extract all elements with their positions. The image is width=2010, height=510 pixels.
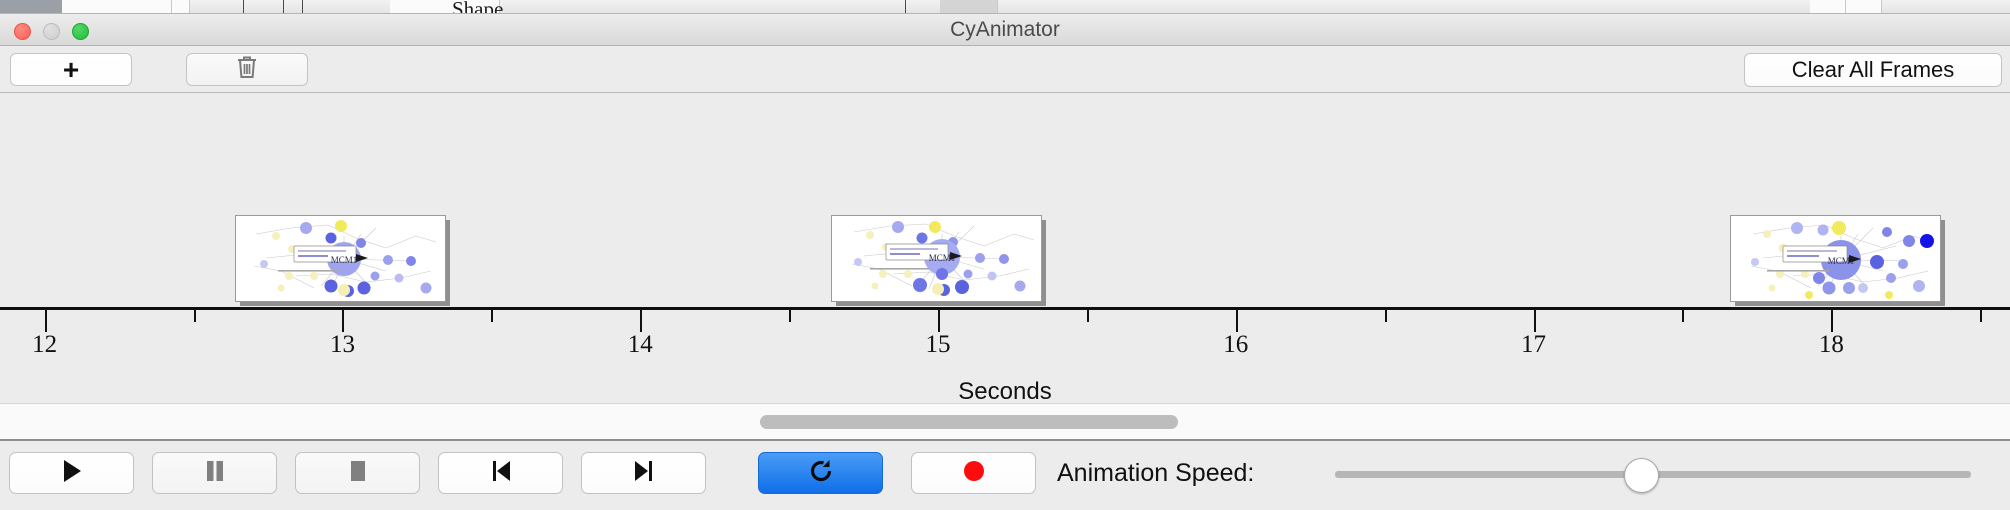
slider-thumb[interactable] [1624,458,1659,493]
axis-tick-label: 15 [926,331,951,359]
pause-icon [203,457,227,490]
axis-tick-major [1236,310,1238,332]
window-title: CyAnimator [0,14,2010,46]
playback-control-bar: Animation Speed: [0,439,2010,510]
thumbnail-image: MCM1 [1730,215,1941,302]
animation-speed-label: Animation Speed: [1057,452,1254,494]
axis-tick-major [1831,310,1833,332]
axis-tick-major [1534,310,1536,332]
timeline-panel[interactable]: MCM1 [0,93,2010,403]
scrollbar-track[interactable] [0,404,2010,439]
record-icon [961,458,987,489]
svg-text:MCM1: MCM1 [331,255,358,265]
clear-all-frames-label: Clear All Frames [1792,57,1955,83]
thumbnail-image: MCM1 [235,215,446,302]
axis-tick-label: 16 [1223,331,1248,359]
add-frame-button[interactable]: + [10,53,132,86]
axis-tick-minor [1980,310,1982,322]
stop-icon [346,457,370,490]
timeline-axis [0,307,2010,310]
stop-button[interactable] [295,452,420,494]
axis-title: Seconds [0,378,2010,403]
axis-tick-minor [194,310,196,322]
keyframe-thumbnail[interactable]: MCM1 [1730,215,1945,305]
axis-tick-minor [789,310,791,322]
axis-tick-label: 12 [32,331,57,359]
axis-tick-minor [491,310,493,322]
keyframe-thumbnail[interactable]: MCM1 [235,215,450,305]
keyframe-thumbnail[interactable]: MCM1 [831,215,1046,305]
axis-tick-label: 18 [1819,331,1844,359]
play-icon [59,457,85,490]
loop-icon [807,457,835,490]
title-bar: CyAnimator [0,14,2010,46]
axis-tick-major [640,310,642,332]
delete-frame-button[interactable] [186,53,308,86]
timeline-scrollbar[interactable] [0,403,2010,439]
axis-tick-minor [1087,310,1089,322]
play-button[interactable] [9,452,134,494]
animation-speed-slider[interactable] [1335,471,1971,478]
pause-button[interactable] [152,452,277,494]
axis-tick-label: 13 [330,331,355,359]
axis-tick-minor [1682,310,1684,322]
trash-icon [235,54,259,85]
scrollbar-thumb[interactable] [760,415,1178,429]
axis-tick-label: 17 [1521,331,1546,359]
skip-to-start-button[interactable] [438,452,563,494]
axis-tick-major [938,310,940,332]
skip-back-icon [488,457,514,490]
record-button[interactable] [911,452,1036,494]
axis-tick-major [45,310,47,332]
cyanimator-window: Shape CyAnimator + [0,0,2010,510]
axis-tick-label: 14 [628,331,653,359]
axis-tick-major [342,310,344,332]
toolbar: + Clear All Frames [0,46,2010,93]
background-window-strip: Shape [0,0,2010,14]
skip-to-end-button[interactable] [581,452,706,494]
skip-forward-icon [631,457,657,490]
plus-icon: + [63,56,79,84]
background-window-label: Shape [452,0,503,14]
thumbnail-image: MCM1 [831,215,1042,302]
axis-tick-minor [1385,310,1387,322]
clear-all-frames-button[interactable]: Clear All Frames [1744,53,2002,87]
loop-button[interactable] [758,452,883,494]
